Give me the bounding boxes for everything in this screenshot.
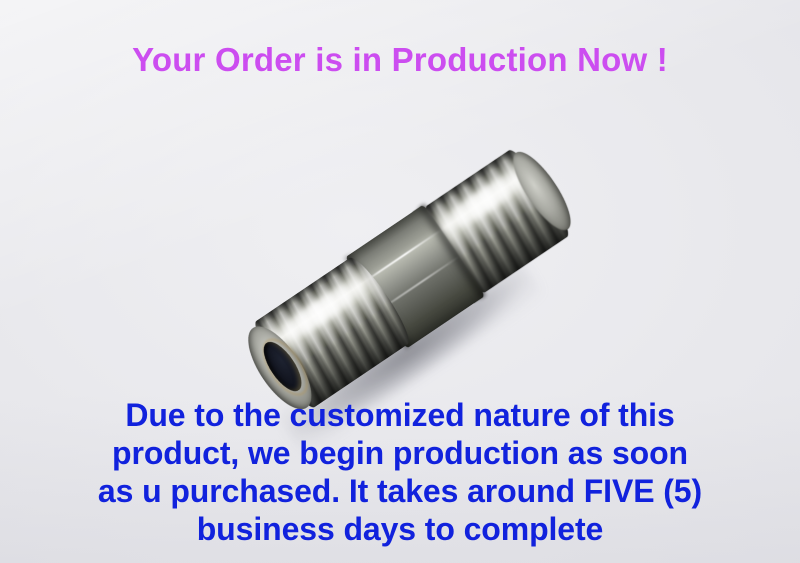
body-line-3: as u purchased. It takes around FIVE (5) [0, 472, 800, 510]
notice-canvas: Your Order is in Production Now ! [0, 0, 800, 563]
body-line-1: Due to the customized nature of this [0, 396, 800, 434]
product-photo [228, 150, 588, 412]
body-line-4: business days to complete [0, 510, 800, 548]
body-line-2: product, we begin production as soon [0, 434, 800, 472]
page-title: Your Order is in Production Now ! [0, 38, 800, 82]
body-copy: Due to the customized nature of this pro… [0, 396, 800, 548]
